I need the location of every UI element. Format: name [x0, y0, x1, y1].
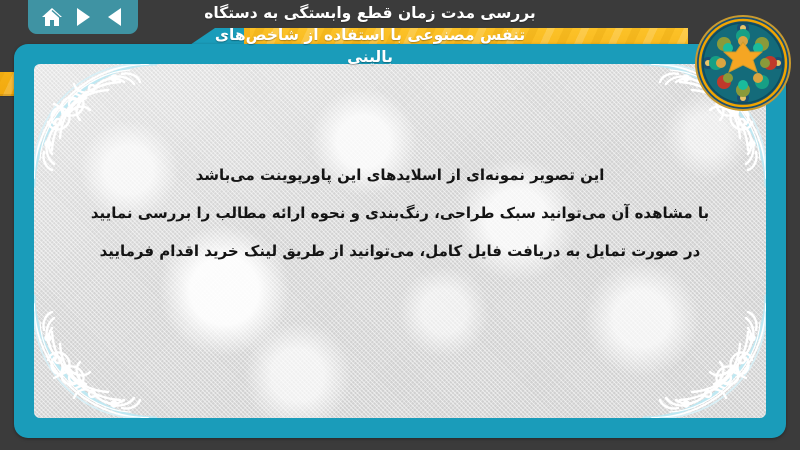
body-line-1: این تصویر نمونه‌ای از اسلایدهای این پاور… [70, 156, 730, 194]
triangle-left-icon [108, 8, 121, 26]
content-area: این تصویر نمونه‌ای از اسلایدهای این پاور… [34, 64, 766, 418]
ornament-corner-bottom-right-icon [638, 290, 766, 418]
home-icon [41, 7, 63, 27]
forward-button[interactable] [70, 4, 96, 30]
ornament-corner-bottom-left-icon [34, 290, 162, 418]
persian-medallion-icon [694, 14, 792, 112]
content-frame: این تصویر نمونه‌ای از اسلایدهای این پاور… [14, 44, 786, 438]
body-line-2: با مشاهده آن می‌توانید سبک طراحی، رنگ‌بن… [70, 194, 730, 232]
navigation-toolbar[interactable] [28, 0, 138, 34]
body-line-3: در صورت تمایل به دریافت فایل کامل، می‌تو… [70, 232, 730, 270]
slide-body-text: این تصویر نمونه‌ای از اسلایدهای این پاور… [70, 156, 730, 270]
presentation-slide: این تصویر نمونه‌ای از اسلایدهای این پاور… [0, 0, 800, 450]
home-button[interactable] [39, 4, 65, 30]
triangle-right-icon [77, 8, 90, 26]
back-button[interactable] [101, 4, 127, 30]
